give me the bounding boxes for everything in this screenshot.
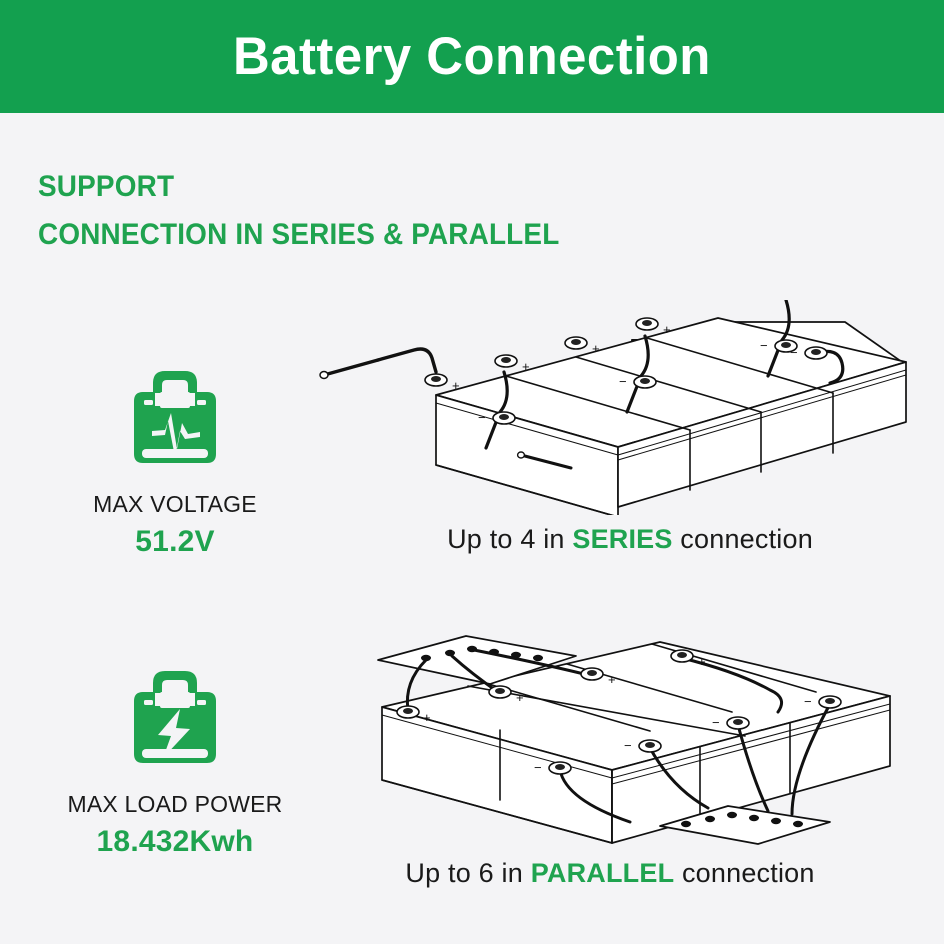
spec-label-max-load-power: MAX LOAD POWER	[10, 791, 340, 818]
support-heading-block: SUPPORT CONNECTION IN SERIES & PARALLEL	[38, 168, 738, 253]
spec-icon-wrapper	[10, 355, 340, 485]
svg-text:−: −	[619, 374, 627, 389]
parallel-connection-diagram: + + + + −	[360, 600, 920, 850]
svg-text:+: +	[663, 322, 671, 337]
support-heading-line-2: CONNECTION IN SERIES & PARALLEL	[38, 216, 689, 254]
svg-text:−: −	[624, 738, 632, 753]
series-caption: Up to 4 in SERIES connection	[320, 524, 940, 555]
svg-text:−: −	[478, 410, 486, 425]
svg-text:+: +	[522, 359, 530, 374]
svg-text:−: −	[790, 345, 798, 360]
parallel-caption-suffix: connection	[674, 858, 814, 888]
svg-text:+: +	[423, 710, 431, 725]
svg-text:+: +	[592, 341, 600, 356]
parallel-caption-prefix: Up to 6 in	[405, 858, 530, 888]
svg-text:−: −	[804, 694, 812, 709]
svg-text:+: +	[516, 690, 524, 705]
series-connection-diagram: + + + + −	[318, 300, 918, 515]
series-caption-suffix: connection	[673, 524, 813, 554]
svg-text:−: −	[712, 715, 720, 730]
battery-pulse-icon	[120, 361, 230, 479]
series-caption-prefix: Up to 4 in	[447, 524, 572, 554]
parallel-caption-emphasis: PARALLEL	[531, 858, 675, 888]
svg-text:+: +	[452, 378, 460, 393]
page-title: Battery Connection	[233, 30, 711, 83]
header-banner: Battery Connection	[0, 0, 944, 113]
spec-value-max-voltage: 51.2V	[10, 525, 340, 559]
svg-text:−: −	[534, 760, 542, 775]
spec-max-load-power: MAX LOAD POWER 18.432Kwh	[10, 655, 340, 859]
parallel-caption: Up to 6 in PARALLEL connection	[300, 858, 920, 889]
spec-value-max-load-power: 18.432Kwh	[10, 825, 340, 859]
svg-text:+: +	[608, 672, 616, 687]
svg-text:+: +	[698, 654, 706, 669]
spec-max-voltage: MAX VOLTAGE 51.2V	[10, 355, 340, 559]
battery-bolt-icon	[120, 661, 230, 779]
svg-text:−: −	[760, 338, 768, 353]
support-heading-line-1: SUPPORT	[38, 168, 689, 206]
spec-label-max-voltage: MAX VOLTAGE	[10, 491, 340, 518]
series-caption-emphasis: SERIES	[572, 524, 672, 554]
spec-icon-wrapper	[10, 655, 340, 785]
